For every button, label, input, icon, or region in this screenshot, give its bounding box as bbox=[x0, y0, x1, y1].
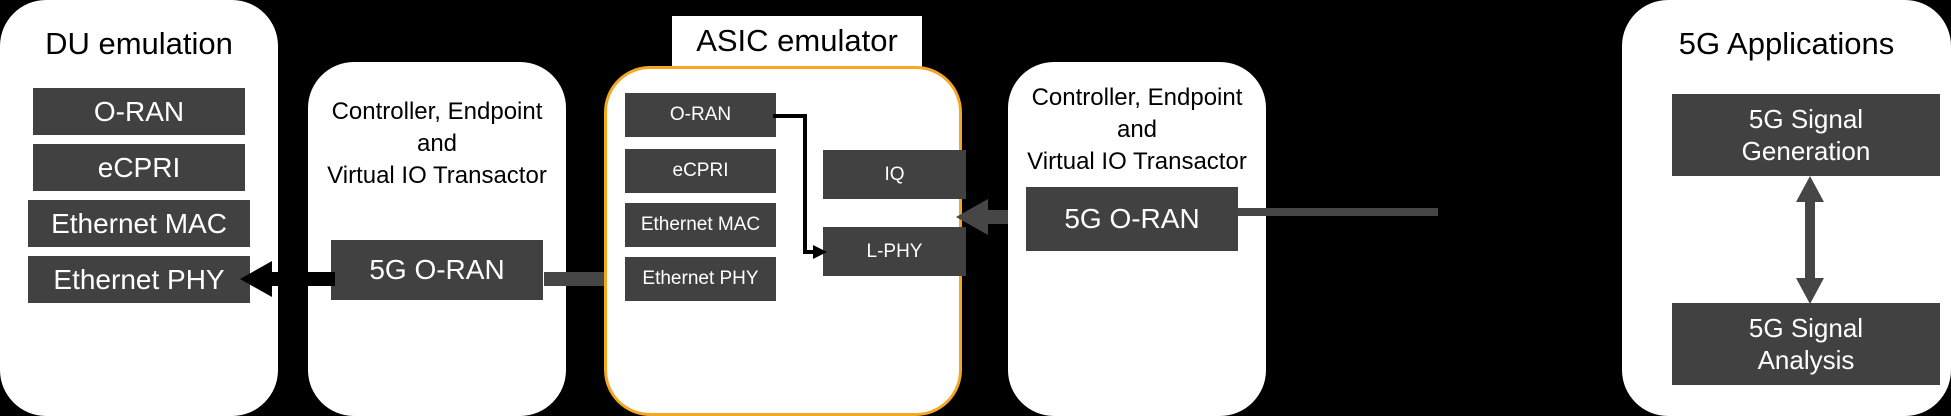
connector-5g-oran-to-applications bbox=[1238, 208, 1438, 216]
block-5g-signal-generation[interactable]: 5G Signal Generation bbox=[1672, 94, 1940, 176]
block-left-5g-o-ran[interactable]: 5G O-RAN bbox=[331, 240, 543, 300]
block-du-ethernet-phy[interactable]: Ethernet PHY bbox=[28, 256, 250, 303]
block-right-5g-o-ran[interactable]: 5G O-RAN bbox=[1026, 187, 1238, 251]
connector-o-ran-to-l-phy bbox=[773, 107, 831, 259]
block-asic-ecpri[interactable]: eCPRI bbox=[625, 149, 776, 193]
panel-du-emulation: DU emulation O-RAN eCPRI Ethernet MAC Et… bbox=[0, 0, 278, 416]
panel-asic-emulator: O-RAN eCPRI Ethernet MAC Ethernet PHY IQ… bbox=[604, 66, 962, 416]
panel-5g-applications-title: 5G Applications bbox=[1622, 26, 1951, 62]
panel-du-emulation-title: DU emulation bbox=[0, 26, 278, 62]
panel-left-controller-body: Controller, Endpoint and Virtual IO Tran… bbox=[308, 96, 566, 192]
diagram-canvas: DU emulation O-RAN eCPRI Ethernet MAC Et… bbox=[0, 0, 1951, 416]
panel-right-controller: Controller, Endpoint and Virtual IO Tran… bbox=[1008, 62, 1266, 416]
panel-right-controller-body: Controller, Endpoint and Virtual IO Tran… bbox=[1008, 82, 1266, 178]
block-asic-ethernet-phy[interactable]: Ethernet PHY bbox=[625, 257, 776, 301]
block-du-ethernet-mac[interactable]: Ethernet MAC bbox=[28, 200, 250, 247]
block-asic-l-phy[interactable]: L-PHY bbox=[823, 227, 966, 276]
panel-left-controller: Controller, Endpoint and Virtual IO Tran… bbox=[308, 62, 566, 416]
block-asic-o-ran[interactable]: O-RAN bbox=[625, 93, 776, 137]
block-du-ecpri[interactable]: eCPRI bbox=[33, 144, 245, 191]
block-asic-ethernet-mac[interactable]: Ethernet MAC bbox=[625, 203, 776, 247]
panel-5g-applications: 5G Applications 5G Signal Generation 5G … bbox=[1622, 0, 1951, 416]
block-5g-signal-analysis[interactable]: 5G Signal Analysis bbox=[1672, 303, 1940, 385]
panel-asic-emulator-title: ASIC emulator bbox=[672, 16, 922, 68]
arrow-5g-oran-to-du-phy bbox=[240, 258, 335, 300]
block-asic-iq[interactable]: IQ bbox=[823, 150, 966, 199]
arrow-generation-analysis-bidirectional bbox=[1792, 176, 1828, 304]
block-du-o-ran[interactable]: O-RAN bbox=[33, 88, 245, 135]
